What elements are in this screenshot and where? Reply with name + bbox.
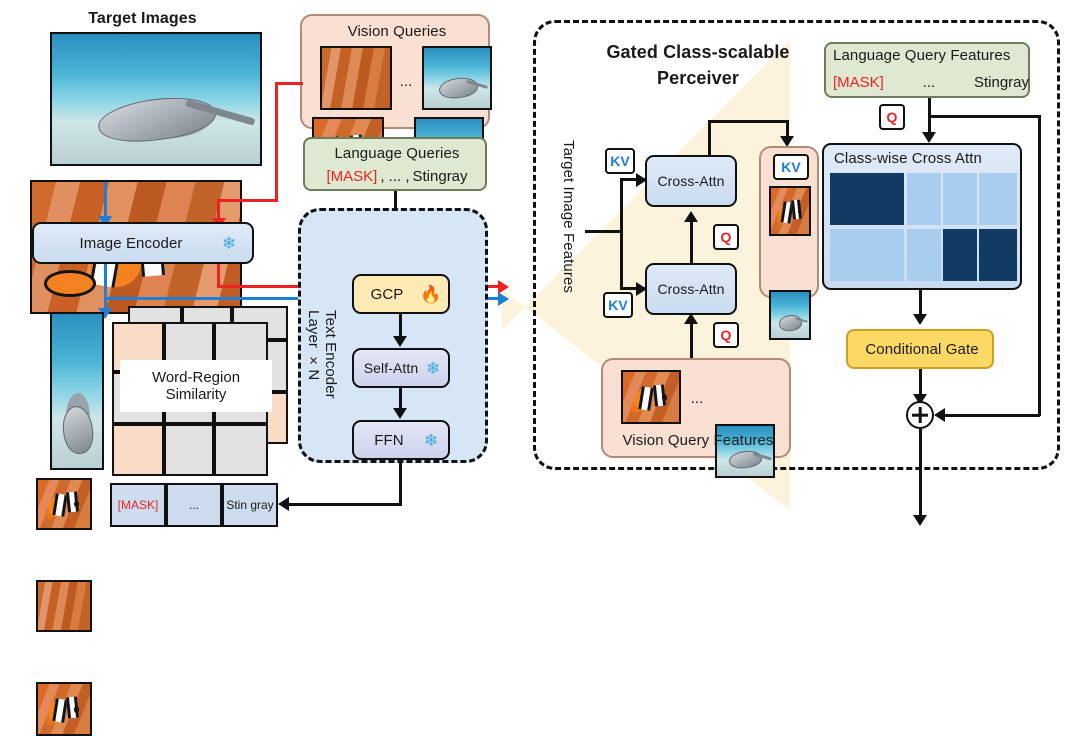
arrow-ca-bottom-to-top [690,218,693,264]
self-attn-block[interactable]: Self-Attn ❄ [352,348,450,388]
encoded-images-stack [36,312,108,480]
kv-badge-bottom: KV [603,292,633,318]
arrowhead-selfattn-to-ffn [393,408,407,419]
target-images-label: Target Images [35,8,250,30]
q-badge-vision-query: Q [713,322,739,348]
q-badge-lqf: Q [879,104,905,130]
wr-caption-line1: Word-Region [152,369,240,386]
wr-caption-line2: Similarity [166,386,227,403]
vision-queries-box: Vision Queries ... [300,14,490,129]
kv-badge-latent: KV [773,154,809,180]
language-queries-box: Language Queries [MASK] , ... , Stingray [303,137,487,191]
arrow-ca-top-out-right [708,120,788,123]
arrowhead-cwca-to-gate [913,314,927,325]
heatmap-cell-r2c1 [830,229,904,281]
lqf-class: Stingray [974,74,1029,91]
output-token-0: [MASK] [110,483,166,527]
vision-query-thumb-stingray-stack [414,46,496,118]
wr-cell-r3c1 [112,424,164,476]
encoded-image-back [50,312,104,470]
ffn-block[interactable]: FFN ❄ [352,420,450,460]
cross-attn-bottom-label: Cross-Attn [647,265,735,313]
arrow-images-to-encoder [104,182,107,220]
conditional-gate-label: Conditional Gate [848,331,996,367]
residual-add-node [906,401,934,429]
vision-query-thumb-clownfish-stack [312,46,394,118]
heatmap-cell-r2c5 [979,229,1017,281]
class-wise-cross-attn-box[interactable]: Class-wise Cross Attn [822,143,1022,290]
kv-badge-top: KV [605,148,635,174]
output-token-2-text: Stin gray [226,499,273,512]
residual-line-bottom [942,414,1040,417]
language-queries-title: Language Queries [305,142,489,164]
heatmap-cell-r1c5 [979,173,1017,225]
arrowhead-blue-to-gcp [498,292,509,306]
word-region-similarity-matrix: Word-Region Similarity [112,306,292,482]
language-query-features-tokens: [MASK] ... Stingray [833,70,1029,94]
heatmap-cell-r1c1 [830,173,904,225]
cross-attn-top-block[interactable]: Cross-Attn [645,155,737,207]
lqf-ellipsis: ... [923,74,936,91]
language-query-features-box: Language Query Features [MASK] ... Sting… [824,42,1030,98]
class-wise-cross-attn-label: Class-wise Cross Attn [834,150,1024,172]
language-query-features-title: Language Query Features [833,47,1033,69]
arrowhead-plus-out [913,515,927,526]
heatmap-cell-r2c3 [907,229,941,281]
vqf-thumb-clownfish [621,370,681,424]
target-images-stack [28,32,268,182]
arrowhead-ca-bottom-to-top [684,211,698,222]
arrow-ffn-down [399,460,402,505]
arrowhead-ffn-to-tokens [278,497,289,511]
wr-cell-r3c2 [164,424,214,476]
vision-query-thumb-back [320,46,392,110]
snowflake-icon: ❄ [222,235,236,252]
red-line-seg3 [217,199,278,202]
residual-line-right [1038,115,1041,416]
wr-cell-r3c3 [214,424,268,476]
ffn-label: FFN [356,422,422,458]
arrow-ca-top-out-up [708,120,711,156]
text-encoder-label-line1: Text Encoder [322,310,339,440]
encoded-image-3 [36,682,92,736]
arrowhead-residual-to-plus [934,408,945,422]
tif-vertical [620,178,623,290]
arrowhead-gcp-to-selfattn [393,336,407,347]
perceiver-title-line2: Perceiver [568,66,828,90]
output-token-1: ... [166,483,222,527]
arrowhead-lqf-to-cwca [922,132,936,143]
encoded-image-1 [36,478,92,530]
figure-canvas: Target Images Vision Queries ... [0,0,1080,547]
vision-query-features-box: ... Vision Query Features [601,358,791,458]
image-encoder-label: Image Encoder [46,224,216,262]
output-token-2: Stin gray [222,483,278,527]
perceiver-title-line1: Gated Class-scalable [568,40,828,64]
image-encoder-box[interactable]: Image Encoder ❄ [32,222,254,264]
cross-attn-bottom-block[interactable]: Cross-Attn [645,263,737,315]
arrowhead-vqf-to-ca [684,313,698,324]
arrow-ffn-left [286,503,402,506]
fire-icon: 🔥 [420,286,441,303]
snowflake-icon-ffn: ❄ [424,432,438,449]
language-queries-tokens: [MASK] , ... , Stingray [305,164,489,188]
language-queries-mask-token: [MASK] [326,168,377,185]
heatmap-cell-r1c4 [943,173,977,225]
arrowhead-tif-top [636,173,647,187]
output-token-row: [MASK] ... Stin gray [110,483,278,527]
red-line-seg2 [275,82,278,202]
vision-query-thumb-back-2 [422,46,492,110]
output-token-0-text: [MASK] [118,499,159,512]
tif-trunk [585,230,623,233]
latent-thumb-clownfish [769,186,811,236]
vision-queries-title: Vision Queries [302,21,492,41]
latent-thumb-stingray [769,290,811,340]
conditional-gate-block[interactable]: Conditional Gate [846,329,994,369]
encoded-image-2 [36,580,92,632]
latent-kv-stack: KV [759,146,819,298]
target-image-features-label: Target Image Features [560,140,577,330]
snowflake-icon-self-attn: ❄ [426,360,440,377]
red-line-seg1 [275,82,303,85]
gcp-label: GCP [360,276,414,312]
vqf-ellipsis: ... [685,388,709,408]
vision-query-features-label: Vision Query Features [603,428,793,452]
heatmap-cell-r2c4 [943,229,977,281]
q-badge-between-cross-attn: Q [713,224,739,250]
attention-heatmap [830,173,1018,283]
text-encoder-label-line2: Layer ×N [305,310,322,400]
output-token-1-text: ... [189,499,199,512]
lqf-mask-token: [MASK] [833,74,884,91]
word-region-similarity-caption: Word-Region Similarity [120,360,272,412]
self-attn-label: Self-Attn [356,350,426,386]
language-queries-separator: , ... , [380,168,409,185]
residual-line-top [928,115,1040,118]
arrowhead-tif-bottom [636,282,647,296]
gcp-block[interactable]: GCP 🔥 [352,274,450,314]
cross-attn-top-label: Cross-Attn [647,157,735,205]
arrow-plus-out [919,429,922,521]
heatmap-cell-r1c3 [907,173,941,225]
language-queries-class: Stingray [413,168,468,185]
arrow-vqf-to-ca [690,320,693,362]
target-image-back [50,32,262,166]
blue-line-seg1 [104,264,107,300]
